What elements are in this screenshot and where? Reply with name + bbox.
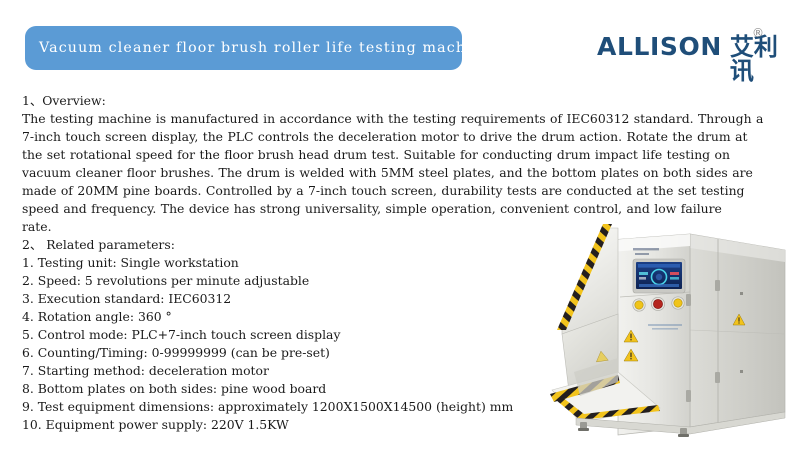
page-title: Vacuum cleaner floor brush roller life t… [25, 40, 492, 56]
registered-trademark-icon: ® [752, 26, 764, 40]
red-emergency-stop-button [651, 297, 664, 310]
product-spec-page: Vacuum cleaner floor brush roller life t… [0, 0, 800, 450]
hmi-touchscreen [633, 259, 685, 293]
overview-heading: 1、Overview: [22, 92, 774, 110]
logo-latin-text: ALLISON [597, 34, 722, 59]
panel-buttons [633, 297, 684, 311]
yellow-button-right [672, 297, 684, 309]
overview-line: speed and frequency. The device has stro… [22, 200, 774, 218]
overview-line: The testing machine is manufactured in a… [22, 110, 774, 128]
title-banner: Vacuum cleaner floor brush roller life t… [25, 26, 462, 70]
page-header: Vacuum cleaner floor brush roller life t… [0, 0, 800, 88]
yellow-button-left [633, 299, 645, 311]
overview-line: made of 20MM pine boards. Controlled by … [22, 182, 774, 200]
cabinet-rear-body [690, 234, 785, 427]
overview-line: vacuum cleaner floor brushes. The drum i… [22, 164, 774, 182]
logo-cjk-text: 艾利讯 [730, 35, 800, 83]
overview-line: 7-inch touch screen display, the PLC con… [22, 128, 774, 146]
product-photo [540, 222, 800, 444]
brand-logo: ALLISON 艾利讯 ® [597, 34, 800, 68]
overview-paragraph: The testing machine is manufactured in a… [22, 110, 774, 236]
overview-line: the set rotational speed for the floor b… [22, 146, 774, 164]
